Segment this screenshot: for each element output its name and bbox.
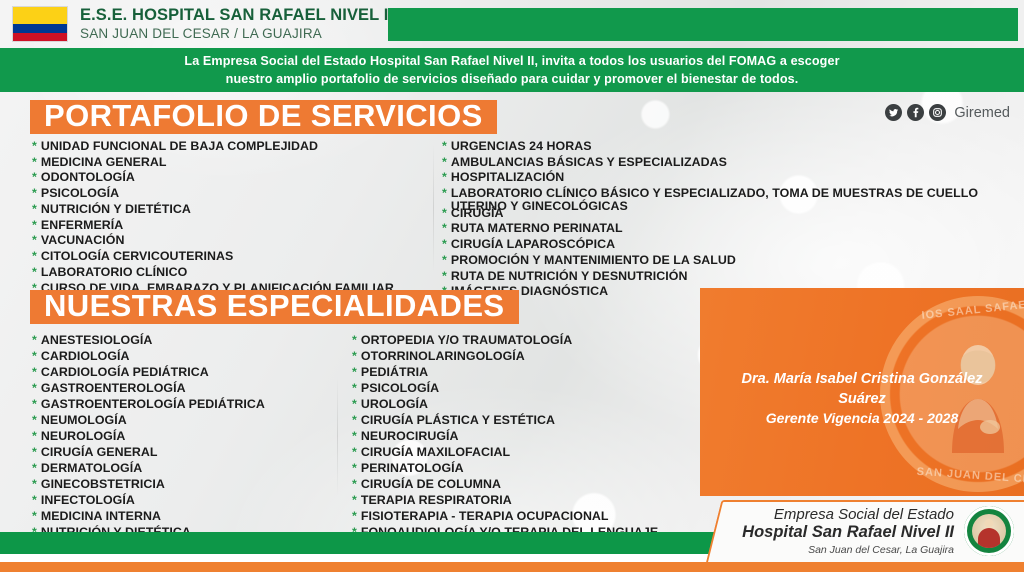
bullet-asterisk-icon: * bbox=[32, 171, 37, 183]
page-title: E.S.E. HOSPITAL SAN RAFAEL NIVEL II bbox=[80, 7, 393, 24]
list-item-label: CIRUGÍA bbox=[451, 207, 504, 220]
seal-text-top: IOS SAAL SAFAEL bbox=[921, 298, 1024, 322]
footer-line-1: Empresa Social del Estado bbox=[742, 506, 954, 524]
services-list-right: *URGENCIAS 24 HORAS*AMBULANCIAS BÁSICAS … bbox=[442, 140, 1002, 301]
bullet-asterisk-icon: * bbox=[352, 462, 357, 474]
bullet-asterisk-icon: * bbox=[32, 350, 37, 362]
footer-line-3: San Juan del Cesar, La Guajira bbox=[742, 544, 954, 556]
list-item: *CARDIOLOGÍA PEDIÁTRICA bbox=[32, 366, 352, 379]
list-item-label: CARDIOLOGÍA bbox=[41, 350, 130, 363]
list-item: *CARDIOLOGÍA bbox=[32, 350, 352, 363]
social-handle[interactable]: Giremed bbox=[954, 105, 1010, 121]
manager-panel: IOS SAAL SAFAEL SAN JUAN DEL CES Dra. Ma… bbox=[700, 288, 1024, 496]
list-item-label: FISIOTERAPIA - TERAPIA OCUPACIONAL bbox=[361, 510, 609, 523]
list-item: *NEUMOLOGÍA bbox=[32, 414, 352, 427]
list-item: *NEUROLOGÍA bbox=[32, 430, 352, 443]
list-item: *CIRUGÍA GENERAL bbox=[32, 446, 352, 459]
list-item: *URGENCIAS 24 HORAS bbox=[442, 140, 1002, 153]
list-item-label: CIRUGÍA MAXILOFACIAL bbox=[361, 446, 510, 459]
list-item-label: TERAPIA RESPIRATORIA bbox=[361, 494, 512, 507]
services-column-divider bbox=[433, 144, 434, 272]
list-item-label: CIRUGÍA LAPAROSCÓPICA bbox=[451, 238, 615, 251]
list-item-label: GINECOBSTETRICIA bbox=[41, 478, 165, 491]
list-item: *MEDICINA INTERNA bbox=[32, 510, 352, 523]
bullet-asterisk-icon: * bbox=[32, 414, 37, 426]
list-item: *MEDICINA GENERAL bbox=[32, 156, 412, 169]
facebook-icon[interactable] bbox=[907, 104, 924, 121]
list-item-label: OTORRINOLARINGOLOGÍA bbox=[361, 350, 525, 363]
list-item-label: UNIDAD FUNCIONAL DE BAJA COMPLEJIDAD bbox=[41, 140, 318, 153]
bullet-asterisk-icon: * bbox=[352, 398, 357, 410]
list-item: *UNIDAD FUNCIONAL DE BAJA COMPLEJIDAD bbox=[32, 140, 412, 153]
list-item: *ODONTOLOGÍA bbox=[32, 171, 412, 184]
list-item: *HOSPITALIZACIÓN bbox=[442, 171, 1002, 184]
list-item-label: PSICOLOGÍA bbox=[41, 187, 119, 200]
bullet-asterisk-icon: * bbox=[32, 478, 37, 490]
bullet-asterisk-icon: * bbox=[32, 187, 37, 199]
services-banner-label: PORTAFOLIO DE SERVICIOS bbox=[44, 98, 483, 134]
list-item: *PSICOLOGÍA bbox=[32, 187, 412, 200]
specialties-list-left: *ANESTESIOLOGÍA*CARDIOLOGÍA*CARDIOLOGÍA … bbox=[32, 334, 352, 558]
bullet-asterisk-icon: * bbox=[352, 366, 357, 378]
list-item: *LABORATORIO CLÍNICO BÁSICO Y ESPECIALIZ… bbox=[442, 187, 1002, 212]
list-item: *TERAPIA RESPIRATORIA bbox=[352, 494, 682, 507]
header-titles: E.S.E. HOSPITAL SAN RAFAEL NIVEL II SAN … bbox=[80, 7, 393, 40]
footer-logo-content: Empresa Social del Estado Hospital San R… bbox=[712, 500, 1024, 562]
bullet-asterisk-icon: * bbox=[442, 207, 447, 219]
bullet-asterisk-icon: * bbox=[32, 366, 37, 378]
list-item-label: PEDIÁTRIA bbox=[361, 366, 428, 379]
list-item-label: PSICOLOGÍA bbox=[361, 382, 439, 395]
list-item: *GASTROENTEROLOGÍA PEDIÁTRICA bbox=[32, 398, 352, 411]
bullet-asterisk-icon: * bbox=[32, 398, 37, 410]
list-item-label: VACUNACIÓN bbox=[41, 234, 125, 247]
bullet-asterisk-icon: * bbox=[442, 270, 447, 282]
bullet-asterisk-icon: * bbox=[442, 156, 447, 168]
list-item-label: NEUMOLOGÍA bbox=[41, 414, 127, 427]
bullet-asterisk-icon: * bbox=[352, 478, 357, 490]
hospital-seal-icon bbox=[964, 506, 1014, 556]
bullet-asterisk-icon: * bbox=[32, 156, 37, 168]
list-item: *PEDIÁTRIA bbox=[352, 366, 682, 379]
list-item-label: UROLOGÍA bbox=[361, 398, 428, 411]
list-item-label: DERMATOLOGÍA bbox=[41, 462, 142, 475]
list-item-label: ANESTESIOLOGÍA bbox=[41, 334, 153, 347]
list-item-label: LABORATORIO CLÍNICO BÁSICO Y ESPECIALIZA… bbox=[451, 187, 1002, 212]
seal-text-bottom: SAN JUAN DEL CES bbox=[916, 466, 1024, 487]
list-item-label: AMBULANCIAS BÁSICAS Y ESPECIALIZADAS bbox=[451, 156, 727, 169]
footer-line-2: Hospital San Rafael Nivel II bbox=[742, 523, 954, 542]
list-item: *NUTRICIÓN Y DIETÉTICA bbox=[32, 203, 412, 216]
invitation-line-1: La Empresa Social del Estado Hospital Sa… bbox=[184, 52, 839, 70]
list-item-label: CIRUGÍA PLÁSTICA Y ESTÉTICA bbox=[361, 414, 555, 427]
social-links[interactable]: Giremed bbox=[885, 104, 1010, 121]
bullet-asterisk-icon: * bbox=[32, 430, 37, 442]
list-item: *FISIOTERAPIA - TERAPIA OCUPACIONAL bbox=[352, 510, 682, 523]
list-item-label: NEUROCIRUGÍA bbox=[361, 430, 459, 443]
list-item: *UROLOGÍA bbox=[352, 398, 682, 411]
list-item-label: NUTRICIÓN Y DIETÉTICA bbox=[41, 203, 191, 216]
list-item-label: URGENCIAS 24 HORAS bbox=[451, 140, 592, 153]
list-item-label: INFECTOLOGÍA bbox=[41, 494, 135, 507]
twitter-icon[interactable] bbox=[885, 104, 902, 121]
list-item-label: MEDICINA GENERAL bbox=[41, 156, 167, 169]
bullet-asterisk-icon: * bbox=[352, 414, 357, 426]
bullet-asterisk-icon: * bbox=[32, 446, 37, 458]
list-item-label: LABORATORIO CLÍNICO bbox=[41, 266, 187, 279]
list-item: *CIRUGÍA MAXILOFACIAL bbox=[352, 446, 682, 459]
list-item: *PERINATOLOGÍA bbox=[352, 462, 682, 475]
bullet-asterisk-icon: * bbox=[32, 266, 37, 278]
bullet-asterisk-icon: * bbox=[32, 250, 37, 262]
list-item-label: CITOLOGÍA CERVICOUTERINAS bbox=[41, 250, 233, 263]
bullet-asterisk-icon: * bbox=[352, 494, 357, 506]
bullet-asterisk-icon: * bbox=[32, 494, 37, 506]
bullet-asterisk-icon: * bbox=[32, 462, 37, 474]
bullet-asterisk-icon: * bbox=[32, 382, 37, 394]
list-item: *ANESTESIOLOGÍA bbox=[32, 334, 352, 347]
list-item: *LABORATORIO CLÍNICO bbox=[32, 266, 412, 279]
specialties-banner-label: NUESTRAS ESPECIALIDADES bbox=[44, 288, 505, 324]
list-item: *DERMATOLOGÍA bbox=[32, 462, 352, 475]
list-item-label: GASTROENTEROLOGÍA PEDIÁTRICA bbox=[41, 398, 265, 411]
bullet-asterisk-icon: * bbox=[352, 334, 357, 346]
bullet-asterisk-icon: * bbox=[442, 238, 447, 250]
services-banner: PORTAFOLIO DE SERVICIOS bbox=[30, 100, 497, 134]
list-item: *NEUROCIRUGÍA bbox=[352, 430, 682, 443]
bullet-asterisk-icon: * bbox=[352, 430, 357, 442]
list-item-label: PROMOCIÓN Y MANTENIMIENTO DE LA SALUD bbox=[451, 254, 736, 267]
list-item: *ORTOPEDIA Y/O TRAUMATOLOGÍA bbox=[352, 334, 682, 347]
bottom-orange-band bbox=[0, 562, 1024, 572]
bullet-asterisk-icon: * bbox=[352, 446, 357, 458]
bullet-asterisk-icon: * bbox=[442, 254, 447, 266]
bullet-asterisk-icon: * bbox=[32, 219, 37, 231]
manager-name: Dra. María Isabel Cristina González Suár… bbox=[716, 370, 1008, 409]
list-item: *RUTA DE NUTRICIÓN Y DESNUTRICIÓN bbox=[442, 270, 1002, 283]
list-item-label: CIRUGÍA GENERAL bbox=[41, 446, 158, 459]
list-item-label: RUTA DE NUTRICIÓN Y DESNUTRICIÓN bbox=[451, 270, 688, 283]
list-item-label: NEUROLOGÍA bbox=[41, 430, 125, 443]
invitation-band: La Empresa Social del Estado Hospital Sa… bbox=[0, 48, 1024, 92]
list-item: *GASTROENTEROLOGÍA bbox=[32, 382, 352, 395]
bullet-asterisk-icon: * bbox=[442, 222, 447, 234]
list-item-label: ENFERMERÍA bbox=[41, 219, 123, 232]
list-item-label: PERINATOLOGÍA bbox=[361, 462, 464, 475]
bullet-asterisk-icon: * bbox=[32, 140, 37, 152]
list-item: *VACUNACIÓN bbox=[32, 234, 412, 247]
bullet-asterisk-icon: * bbox=[442, 140, 447, 152]
bullet-asterisk-icon: * bbox=[32, 203, 37, 215]
list-item-label: GASTROENTEROLOGÍA bbox=[41, 382, 186, 395]
list-item: *CITOLOGÍA CERVICOUTERINAS bbox=[32, 250, 412, 263]
footer-text: Empresa Social del Estado Hospital San R… bbox=[742, 506, 954, 557]
bullet-asterisk-icon: * bbox=[352, 350, 357, 362]
list-item-label: MEDICINA INTERNA bbox=[41, 510, 161, 523]
list-item-label: ORTOPEDIA Y/O TRAUMATOLOGÍA bbox=[361, 334, 572, 347]
page-subtitle: SAN JUAN DEL CESAR / LA GUAJIRA bbox=[80, 27, 393, 41]
poster-root: E.S.E. HOSPITAL SAN RAFAEL NIVEL II SAN … bbox=[0, 0, 1024, 572]
list-item: *CIRUGÍA LAPAROSCÓPICA bbox=[442, 238, 1002, 251]
colombia-flag-icon bbox=[12, 6, 68, 42]
specialties-banner: NUESTRAS ESPECIALIDADES bbox=[30, 290, 519, 324]
list-item: *CIRUGÍA DE COLUMNA bbox=[352, 478, 682, 491]
bullet-asterisk-icon: * bbox=[442, 187, 447, 199]
bullet-asterisk-icon: * bbox=[32, 510, 37, 522]
bullet-asterisk-icon: * bbox=[352, 382, 357, 394]
bullet-asterisk-icon: * bbox=[352, 510, 357, 522]
list-item: *AMBULANCIAS BÁSICAS Y ESPECIALIZADAS bbox=[442, 156, 1002, 169]
list-item-label: ODONTOLOGÍA bbox=[41, 171, 135, 184]
list-item: *ENFERMERÍA bbox=[32, 219, 412, 232]
list-item: *GINECOBSTETRICIA bbox=[32, 478, 352, 491]
header-green-bar bbox=[388, 8, 1018, 41]
list-item: *PROMOCIÓN Y MANTENIMIENTO DE LA SALUD bbox=[442, 254, 1002, 267]
list-item: *CIRUGÍA PLÁSTICA Y ESTÉTICA bbox=[352, 414, 682, 427]
manager-info: Dra. María Isabel Cristina González Suár… bbox=[700, 370, 1024, 428]
bullet-asterisk-icon: * bbox=[32, 234, 37, 246]
list-item-label: CIRUGÍA DE COLUMNA bbox=[361, 478, 501, 491]
list-item: *RUTA MATERNO PERINATAL bbox=[442, 222, 1002, 235]
instagram-icon[interactable] bbox=[929, 104, 946, 121]
manager-role: Gerente Vigencia 2024 - 2028 bbox=[716, 409, 1008, 428]
list-item-label: RUTA MATERNO PERINATAL bbox=[451, 222, 623, 235]
services-list-left: *UNIDAD FUNCIONAL DE BAJA COMPLEJIDAD*ME… bbox=[32, 140, 412, 297]
bullet-asterisk-icon: * bbox=[442, 171, 447, 183]
list-item: *INFECTOLOGÍA bbox=[32, 494, 352, 507]
list-item: *OTORRINOLARINGOLOGÍA bbox=[352, 350, 682, 363]
list-item: *PSICOLOGÍA bbox=[352, 382, 682, 395]
invitation-line-2: nuestro amplio portafolio de servicios d… bbox=[226, 70, 799, 88]
list-item-label: HOSPITALIZACIÓN bbox=[451, 171, 564, 184]
specialties-list-right: *ORTOPEDIA Y/O TRAUMATOLOGÍA*OTORRINOLAR… bbox=[352, 334, 682, 543]
bullet-asterisk-icon: * bbox=[32, 334, 37, 346]
list-item-label: CARDIOLOGÍA PEDIÁTRICA bbox=[41, 366, 209, 379]
